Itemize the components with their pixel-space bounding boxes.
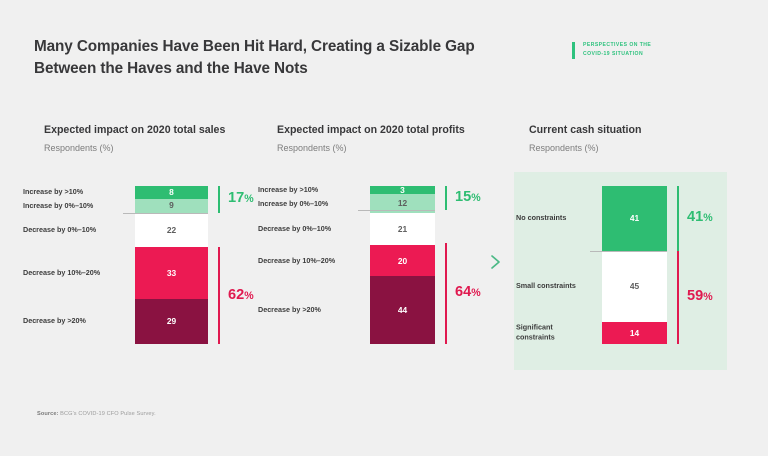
chart-cash: No constraints41Small constraints45Signi… <box>528 186 728 344</box>
bar-category-label: Increase by >10% <box>258 185 370 195</box>
bar-segment[interactable]: Decrease by 0%–10%22 <box>135 213 208 247</box>
page-title: Many Companies Have Been Hit Hard, Creat… <box>34 36 534 79</box>
callout-percentage: 41% <box>687 210 713 225</box>
source-label: Source: <box>37 411 59 417</box>
bar-category-label: Decrease by 0%–10% <box>258 224 370 234</box>
bar-value-label: 41 <box>630 214 639 222</box>
panel-title-cash: Current cash situation <box>529 124 729 137</box>
bar-category-label: Decrease by 10%–20% <box>258 256 370 266</box>
bar-segment[interactable]: Decrease by 0%–10%21 <box>370 213 435 245</box>
source-text: BCG's COVID-19 CFO Pulse Survey. <box>59 411 156 417</box>
callout-bracket <box>218 186 220 213</box>
bar-category-label: Increase by 0%–10% <box>23 200 135 210</box>
callout-percentage: 62% <box>228 288 254 303</box>
bar-segment[interactable]: Decrease by 10%–20%33 <box>135 247 208 299</box>
bar-category-label: Increase by >10% <box>23 187 135 197</box>
bar-value-label: 3 <box>400 186 405 194</box>
source-note: Source: BCG's COVID-19 CFO Pulse Survey. <box>37 411 156 417</box>
bar-value-label: 8 <box>169 188 174 196</box>
bar-value-label: 9 <box>169 201 174 209</box>
callout-percentage: 59% <box>687 289 713 304</box>
bar-value-label: 29 <box>167 317 176 325</box>
stacked-bar-sales: Increase by >10%8Increase by 0%–10%9Decr… <box>135 186 208 344</box>
callout-bracket <box>677 186 679 251</box>
bar-segment[interactable]: Increase by >10%8 <box>135 186 208 199</box>
callout-bracket <box>445 243 447 344</box>
panel-title-sales: Expected impact on 2020 total sales <box>44 124 274 137</box>
panel-header-profits: Expected impact on 2020 total profits Re… <box>277 124 507 154</box>
bar-category-label: Increase by 0%–10% <box>258 198 370 208</box>
chevron-right-icon <box>489 253 503 271</box>
bar-value-label: 45 <box>630 282 639 290</box>
panel-title-profits: Expected impact on 2020 total profits <box>277 124 507 137</box>
bar-category-label: Significant constraints <box>516 323 602 344</box>
bar-value-label: 21 <box>398 225 407 233</box>
bar-segment[interactable]: Increase by >10%3 <box>370 186 435 194</box>
bar-segment[interactable]: No constraints41 <box>602 186 667 251</box>
callout-bracket <box>445 186 447 210</box>
bar-category-label: No constraints <box>516 213 602 223</box>
callout-bracket <box>218 247 220 344</box>
bar-segment[interactable]: Decrease by >20%44 <box>370 276 435 344</box>
panel-subtitle-cash: Respondents (%) <box>529 143 729 154</box>
bar-category-label: Decrease by 10%–20% <box>23 268 135 278</box>
bar-value-label: 22 <box>167 226 176 234</box>
chart-sales: Increase by >10%8Increase by 0%–10%9Decr… <box>34 186 274 344</box>
bar-segment[interactable]: Increase by 0%–10%9 <box>135 199 208 213</box>
callout-percentage: 15% <box>455 190 481 205</box>
chart-profits: Increase by >10%3Increase by 0%–10%12Dec… <box>268 186 508 344</box>
bar-value-label: 33 <box>167 269 176 277</box>
bar-segment[interactable]: Decrease by 10%–20%20 <box>370 245 435 276</box>
accent-bar-icon <box>572 42 575 59</box>
panel-subtitle-profits: Respondents (%) <box>277 143 507 154</box>
bar-category-label: Decrease by >20% <box>23 316 135 326</box>
bar-segment[interactable]: Small constraints45 <box>602 251 667 322</box>
bar-segment[interactable]: Increase by 0%–10%12 <box>370 194 435 213</box>
stacked-bar-cash: No constraints41Small constraints45Signi… <box>602 186 667 344</box>
callout-percentage: 17% <box>228 191 254 206</box>
bar-category-label: Small constraints <box>516 281 602 291</box>
bar-category-label: Decrease by 0%–10% <box>23 225 135 235</box>
callout-bracket <box>677 251 679 344</box>
bar-value-label: 12 <box>398 199 407 207</box>
panel-subtitle-sales: Respondents (%) <box>44 143 274 154</box>
stacked-bar-profits: Increase by >10%3Increase by 0%–10%12Dec… <box>370 186 435 344</box>
brand-tag-label: Perspectives on the COVID-19 situation <box>583 41 651 58</box>
bar-segment[interactable]: Decrease by >20%29 <box>135 299 208 344</box>
panel-header-sales: Expected impact on 2020 total sales Resp… <box>44 124 274 154</box>
panel-header-cash: Current cash situation Respondents (%) <box>529 124 729 154</box>
bar-value-label: 20 <box>398 257 407 265</box>
bar-category-label: Decrease by >20% <box>258 305 370 315</box>
brand-tag: Perspectives on the COVID-19 situation <box>572 41 651 59</box>
bar-value-label: 44 <box>398 306 407 314</box>
callout-percentage: 64% <box>455 285 481 300</box>
bar-value-label: 14 <box>630 329 639 337</box>
bar-segment[interactable]: Significant constraints14 <box>602 322 667 344</box>
